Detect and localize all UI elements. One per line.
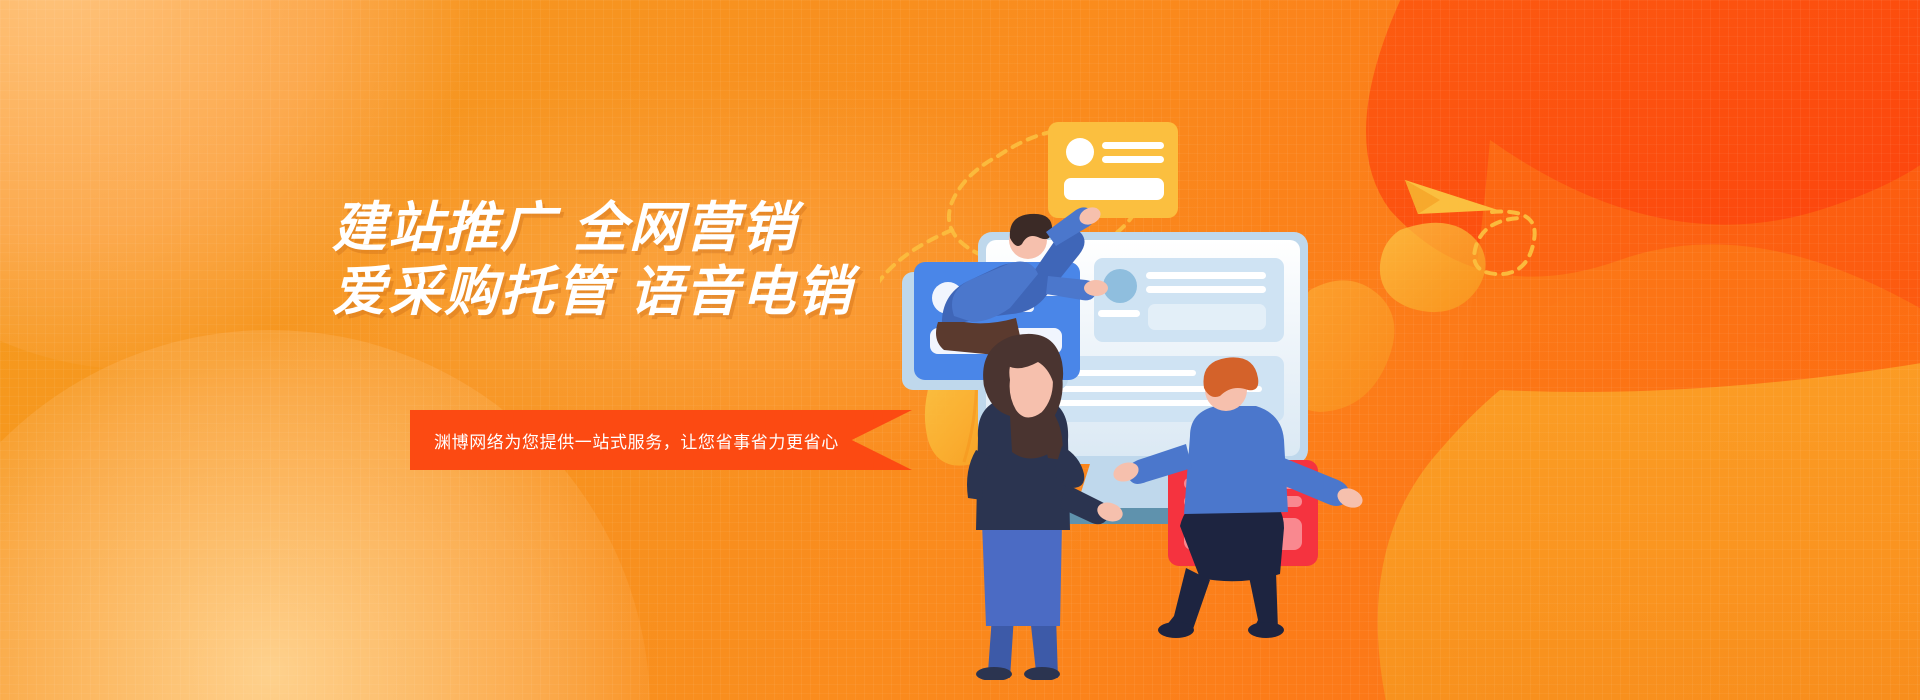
hero-illustration — [880, 60, 1620, 680]
headline-line-2: 爱采购托管 语音电销 — [332, 260, 892, 324]
paper-plane-icon — [1405, 180, 1498, 214]
banner-copy: 建站推广 全网营销 爱采购托管 语音电销 渊博网络为您提供一站式服务，让您省事省… — [332, 196, 892, 324]
yellow-profile-card — [1048, 122, 1178, 218]
ribbon-label: 渊博网络为您提供一站式服务，让您省事省力更省心 — [410, 410, 912, 470]
leaf-shape-right — [1380, 223, 1486, 312]
subtitle-ribbon: 渊博网络为您提供一站式服务，让您省事省力更省心 — [410, 410, 912, 470]
headline-line-1: 建站推广 全网营销 — [332, 196, 892, 260]
promo-banner: 建站推广 全网营销 爱采购托管 语音电销 渊博网络为您提供一站式服务，让您省事省… — [0, 0, 1920, 700]
